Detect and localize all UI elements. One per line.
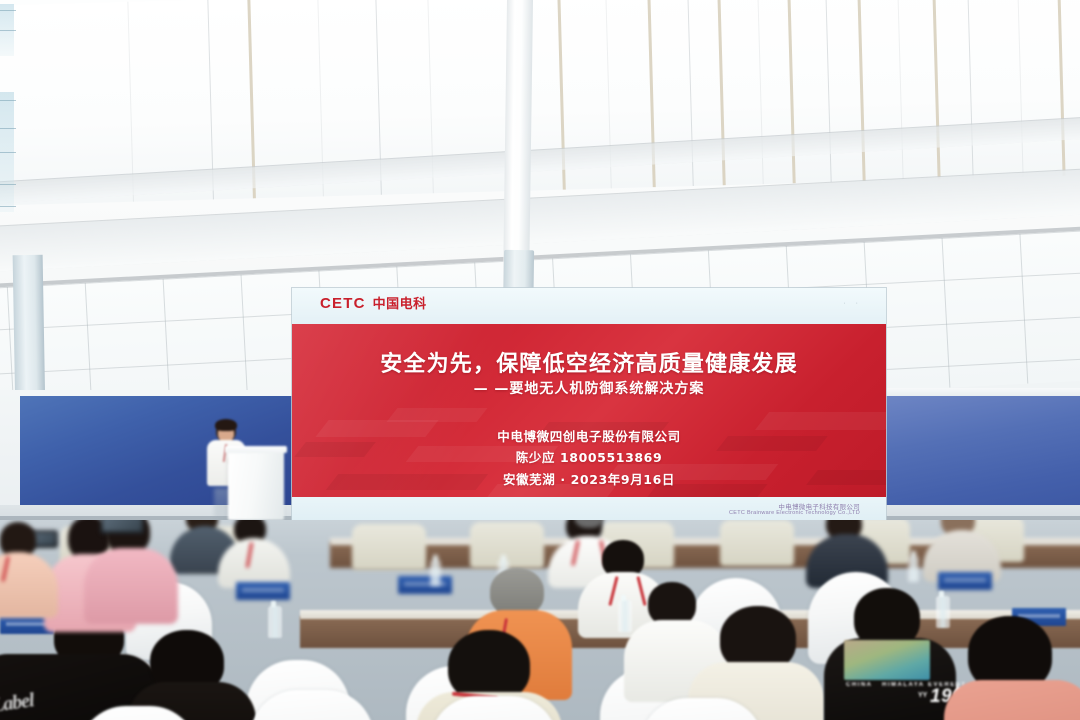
conference-photo-scene: CETC 中国电科 · · 安全为先，保障低空经济高质量健康发展 — —要地无人…	[0, 0, 1080, 720]
tshirt-year-prefix: YY	[918, 692, 927, 699]
tshirt-landscape-graphic	[844, 640, 930, 680]
water-bottle	[618, 600, 632, 632]
cetc-wordmark: CETC	[320, 296, 366, 311]
water-bottle	[936, 596, 950, 628]
lectern	[228, 450, 284, 520]
slide-subtitle: — —要地无人机防御系统解决方案	[292, 378, 886, 398]
phone-screen	[103, 520, 141, 531]
cetc-chinese-name: 中国电科	[373, 297, 427, 310]
slide-red-band: 安全为先，保障低空经济高质量健康发展 — —要地无人机防御系统解决方案 中电博微…	[292, 324, 886, 497]
table-name-card	[398, 576, 452, 594]
water-bottle	[430, 560, 441, 586]
seatback	[352, 524, 426, 570]
water-bottle	[908, 556, 919, 582]
water-bottle	[268, 606, 282, 638]
slide-header-marks: · ·	[843, 300, 862, 307]
projection-screen: CETC 中国电科 · · 安全为先，保障低空经济高质量健康发展 — —要地无人…	[292, 288, 886, 524]
slide-info-block: 中电博微四创电子股份有限公司 陈少应 18005513869 安徽芜湖 · 20…	[292, 426, 886, 490]
lectern-top-surface	[225, 446, 287, 453]
presenter-hair	[215, 419, 237, 431]
slide-location-date: 安徽芜湖 · 2023年9月16日	[292, 469, 886, 490]
table-name-card	[938, 572, 992, 590]
slide-footer-company-en: CETC Brainware Electronic Technology Co.…	[729, 510, 860, 516]
slide-header: CETC 中国电科 · ·	[292, 288, 886, 324]
seatback	[720, 520, 794, 566]
camera-phone	[100, 520, 144, 534]
tshirt-label-himalaya: HIMALAYA	[882, 682, 925, 688]
slide-presenter-contact: 陈少应 18005513869	[292, 447, 886, 468]
slide-title: 安全为先，保障低空经济高质量健康发展	[292, 346, 886, 378]
cetc-logo: CETC 中国电科	[320, 296, 427, 311]
table-name-card	[236, 582, 290, 600]
audience-seating-area: Label	[0, 520, 1080, 720]
slide-company-name: 中电博微四创电子股份有限公司	[292, 426, 886, 447]
tshirt-label-china: CHINA	[846, 682, 873, 688]
